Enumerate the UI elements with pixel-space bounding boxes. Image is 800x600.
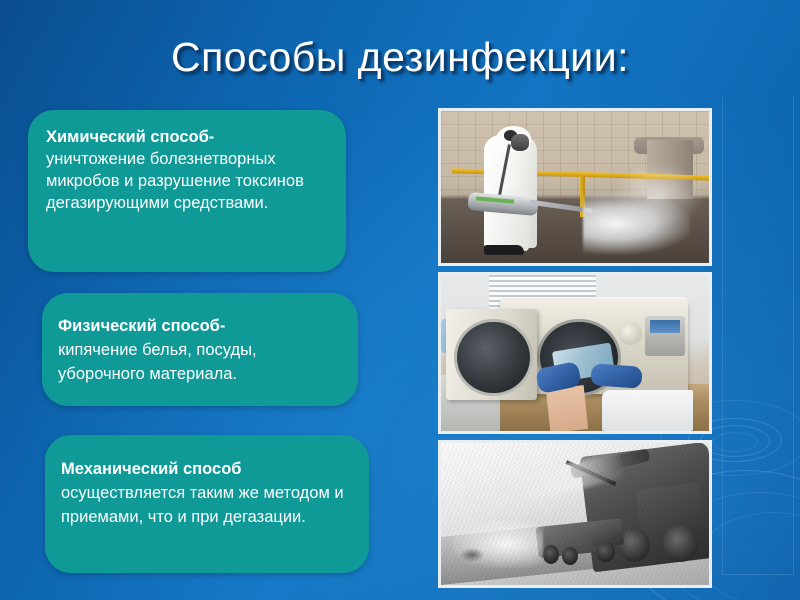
photo-decon-scene: [441, 443, 709, 585]
photo-fogging-scene: [441, 111, 709, 263]
guide-line-bottom: [722, 574, 794, 575]
slide: Способы дезинфекции: Химический способ- …: [0, 0, 800, 600]
method-chemical-lead: Химический способ-: [46, 126, 330, 148]
photo-fogging-worker: [438, 108, 712, 266]
method-chemical-body: уничтожение болезнетворных микробов и ра…: [46, 148, 330, 214]
method-physical-body: кипячение белья, посуды, уборочного мате…: [58, 338, 342, 386]
method-box-mechanical: Механический способ осуществляется таким…: [45, 435, 369, 573]
photo-autoclave-sterilizer: [438, 272, 712, 434]
method-mechanical-lead: Механический способ: [61, 457, 353, 481]
guide-line-right: [793, 96, 794, 574]
guide-line-left: [722, 96, 723, 574]
method-box-physical: Физический способ- кипячение белья, посу…: [42, 293, 358, 406]
slide-title: Способы дезинфекции:: [0, 34, 800, 81]
method-mechanical-body: осуществляется таким же методом и приема…: [61, 481, 353, 529]
method-physical-lead: Физический способ-: [58, 314, 342, 338]
photo-decontamination-vehicles: [438, 440, 712, 588]
method-box-chemical: Химический способ- уничтожение болезнетв…: [28, 110, 346, 272]
photo-autoclave-scene: [441, 275, 709, 431]
